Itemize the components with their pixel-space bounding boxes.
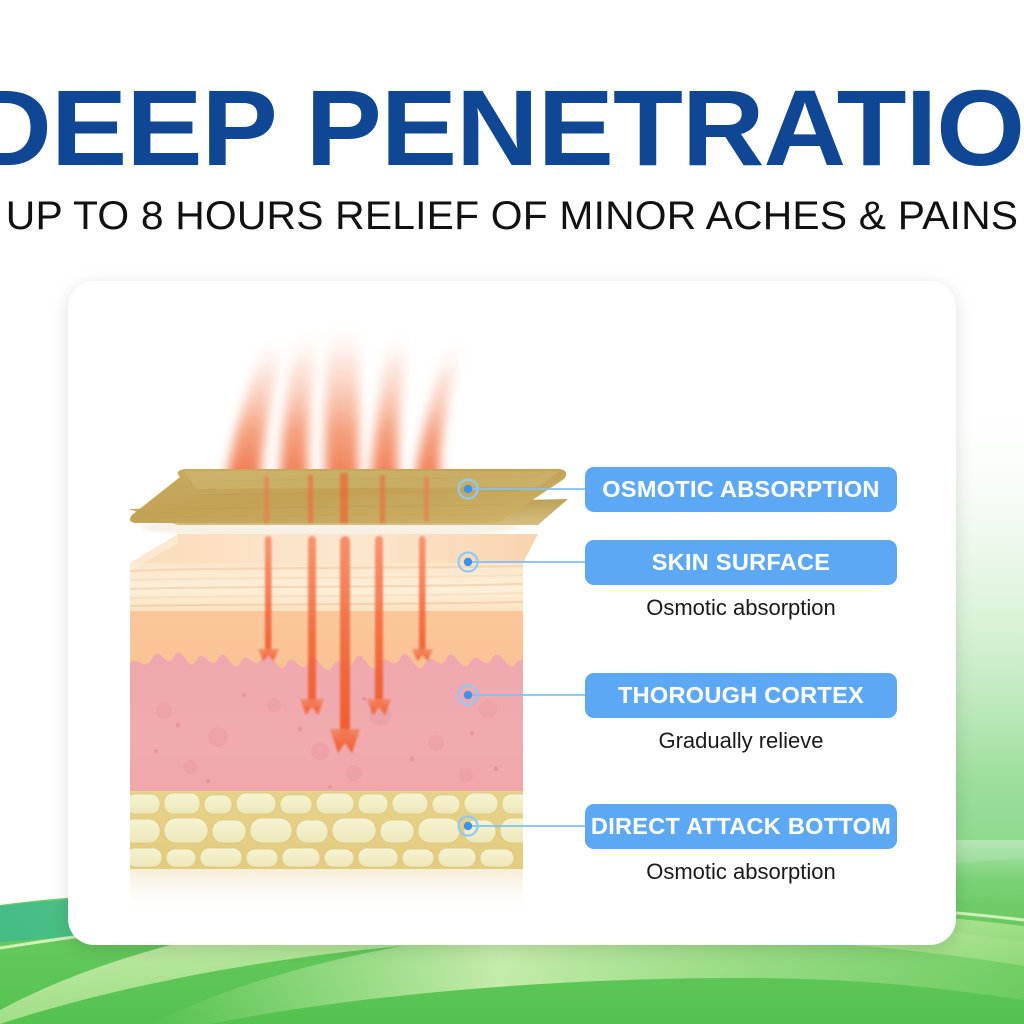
page-subtitle: UP TO 8 HOURS RELIEF OF MINOR ACHES & PA… <box>0 178 1024 238</box>
caption-skin-surface: Osmotic absorption <box>585 595 897 621</box>
page-title: DEEP PENETRATION <box>0 0 1024 178</box>
caption-direct-attack-bottom: Osmotic absorption <box>585 859 897 885</box>
caption-thorough-cortex: Gradually relieve <box>585 728 897 754</box>
badge-skin-surface[interactable]: SKIN SURFACE <box>585 540 897 585</box>
callout-skin-surface: SKIN SURFACE Osmotic absorption <box>585 540 897 621</box>
header: DEEP PENETRATION UP TO 8 HOURS RELIEF OF… <box>0 0 1024 238</box>
callout-osmotic-absorption: OSMOTIC ABSORPTION <box>585 467 897 512</box>
diagram-card: OSMOTIC ABSORPTION SKIN SURFACE Osmotic … <box>68 281 956 945</box>
callout-thorough-cortex: THOROUGH CORTEX Gradually relieve <box>585 673 897 754</box>
heat-rays <box>226 317 466 491</box>
badge-thorough-cortex[interactable]: THOROUGH CORTEX <box>585 673 897 718</box>
badge-osmotic-absorption[interactable]: OSMOTIC ABSORPTION <box>585 467 897 512</box>
skin-block <box>122 534 538 915</box>
callout-direct-attack-bottom: DIRECT ATTACK BOTTOM Osmotic absorption <box>585 804 897 885</box>
badge-direct-attack-bottom[interactable]: DIRECT ATTACK BOTTOM <box>585 804 897 849</box>
